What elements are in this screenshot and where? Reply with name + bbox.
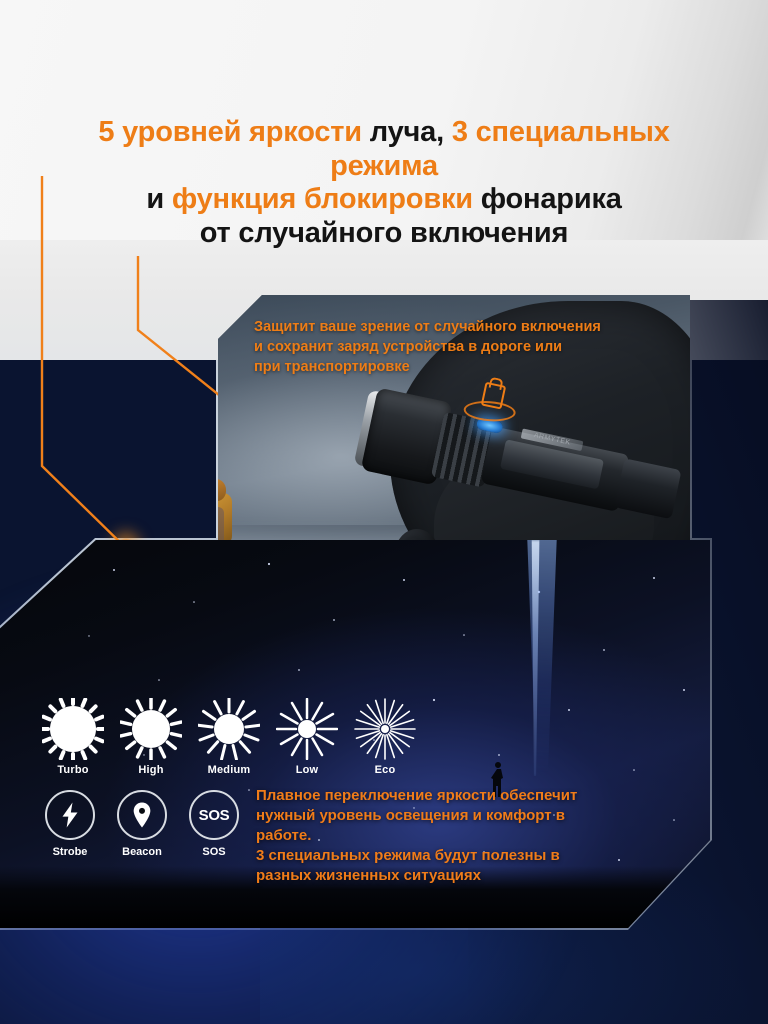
headline-accent-2: 3 специальных bbox=[452, 116, 670, 148]
bottom-caption-line-2: нужный уровень освещения и комфорт в bbox=[256, 806, 686, 826]
sun-burst-turbo-icon bbox=[34, 698, 112, 760]
special-modes-row: StrobeBeaconSOSSOS bbox=[34, 790, 250, 858]
headline-plain-1: луча, bbox=[362, 116, 452, 148]
photo-caption: Защитит ваше зрение от случайного включе… bbox=[254, 317, 654, 377]
headline-accent-3: функция блокировки bbox=[172, 183, 473, 215]
sos-text-icon: SOS bbox=[189, 790, 239, 840]
bottom-caption-line-5: разных жизненных ситуациях bbox=[256, 866, 686, 886]
headline-line-1: 5 уровней яркости луча, 3 специальных bbox=[0, 116, 768, 150]
sun-burst-low-icon bbox=[268, 698, 346, 760]
brightness-mode-eco: Eco bbox=[346, 698, 424, 776]
headline-line-2: режима bbox=[0, 150, 768, 184]
sun-burst-high-icon bbox=[112, 698, 190, 760]
brightness-mode-medium: Medium bbox=[190, 698, 268, 776]
sos-label-inner: SOS bbox=[199, 807, 230, 824]
brightness-mode-high: High bbox=[112, 698, 190, 776]
photo-caption-line-3: при транспортировке bbox=[254, 357, 654, 377]
headline-line-4: от случайного включения bbox=[0, 217, 768, 251]
headline-plain-2: и bbox=[146, 183, 172, 215]
special-mode-label: SOS bbox=[178, 846, 250, 858]
headline-line-3: и функция блокировки фонарика bbox=[0, 183, 768, 217]
special-mode-sos: SOSSOS bbox=[178, 790, 250, 858]
photo-caption-line-1: Защитит ваше зрение от случайного включе… bbox=[254, 317, 654, 337]
lightning-bolt-icon bbox=[45, 790, 95, 840]
bottom-caption-line-1: Плавное переключение яркости обеспечит bbox=[256, 786, 686, 806]
flashlight-tailcap bbox=[614, 458, 681, 519]
brightness-mode-label: Turbo bbox=[34, 764, 112, 776]
bottom-panel: TurboHighMediumLowEco StrobeBeaconSOSSOS… bbox=[0, 540, 710, 928]
special-mode-label: Strobe bbox=[34, 846, 106, 858]
brightness-mode-label: Low bbox=[268, 764, 346, 776]
headline-plain-3: фонарика bbox=[473, 183, 622, 215]
headline-accent-1: 5 уровней яркости bbox=[98, 116, 362, 148]
bottom-caption-line-3: работе. bbox=[256, 826, 686, 846]
brightness-mode-low: Low bbox=[268, 698, 346, 776]
map-pin-icon bbox=[117, 790, 167, 840]
photo-caption-line-2: и сохранит заряд устройства в дороге или bbox=[254, 337, 654, 357]
poster-canvas: 5 уровней яркости луча, 3 специальных ре… bbox=[0, 0, 768, 1024]
special-mode-strobe: Strobe bbox=[34, 790, 106, 858]
special-mode-beacon: Beacon bbox=[106, 790, 178, 858]
brightness-mode-label: High bbox=[112, 764, 190, 776]
page-title: 5 уровней яркости луча, 3 специальных ре… bbox=[0, 116, 768, 251]
brightness-mode-turbo: Turbo bbox=[34, 698, 112, 776]
bottom-caption: Плавное переключение яркости обеспечит н… bbox=[256, 786, 686, 886]
brightness-mode-label: Eco bbox=[346, 764, 424, 776]
special-mode-label: Beacon bbox=[106, 846, 178, 858]
brightness-mode-label: Medium bbox=[190, 764, 268, 776]
brightness-modes-row: TurboHighMediumLowEco bbox=[34, 698, 424, 776]
sun-burst-eco-icon bbox=[346, 698, 424, 760]
sun-burst-medium-icon bbox=[190, 698, 268, 760]
bottom-caption-line-4: 3 специальных режима будут полезны в bbox=[256, 846, 686, 866]
